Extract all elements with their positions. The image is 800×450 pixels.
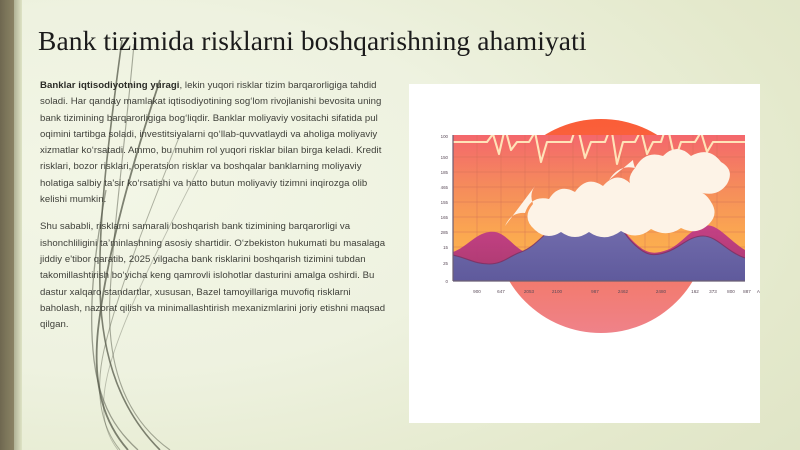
x-tick: 2480 bbox=[656, 289, 667, 294]
x-tick: 2053 bbox=[524, 289, 535, 294]
x-tick: 987 bbox=[591, 289, 599, 294]
y-tick: 25 bbox=[443, 261, 448, 266]
x-tick: 800 bbox=[727, 289, 735, 294]
illustration-image: 100 150 185 465 155 165 285 15 25 0 900 bbox=[409, 84, 760, 423]
x-tick: A38 bbox=[757, 289, 760, 294]
y-tick: 465 bbox=[441, 185, 449, 190]
x-tick: 887 bbox=[743, 289, 751, 294]
paragraph-2: Shu sababli, risklarni samarali boshqari… bbox=[40, 219, 388, 333]
left-edge-band-shadow bbox=[14, 0, 22, 450]
paragraph-1: Banklar iqtisodiyotning yuragi, lekin yu… bbox=[40, 78, 388, 208]
illustration-svg: 100 150 185 465 155 165 285 15 25 0 900 bbox=[409, 84, 760, 423]
x-tick: 647 bbox=[497, 289, 505, 294]
y-tick: 150 bbox=[441, 155, 449, 160]
y-tick: 100 bbox=[441, 134, 449, 139]
x-tick: 373 bbox=[709, 289, 717, 294]
chart-panel: 100 150 185 465 155 165 285 15 25 0 900 bbox=[423, 124, 760, 309]
body-text-column: Banklar iqtisodiyotning yuragi, lekin yu… bbox=[40, 78, 388, 344]
slide-canvas: Bank tizimida risklarni boshqarishning a… bbox=[0, 0, 800, 450]
y-tick: 15 bbox=[443, 245, 448, 250]
x-tick: 162 bbox=[691, 289, 699, 294]
paragraph-1-lead: Banklar iqtisodiyotning yuragi bbox=[40, 80, 180, 91]
x-tick: 2100 bbox=[552, 289, 563, 294]
x-tick: 900 bbox=[473, 289, 481, 294]
x-tick: 2462 bbox=[618, 289, 629, 294]
y-tick: 165 bbox=[441, 215, 449, 220]
paragraph-1-rest: , lekin yuqori risklar tizim barqarorlig… bbox=[40, 80, 381, 205]
left-edge-band bbox=[0, 0, 14, 450]
y-tick: 155 bbox=[441, 200, 449, 205]
page-title: Bank tizimida risklarni boshqarishning a… bbox=[38, 25, 738, 57]
y-tick: 185 bbox=[441, 170, 449, 175]
y-tick: 285 bbox=[441, 230, 449, 235]
